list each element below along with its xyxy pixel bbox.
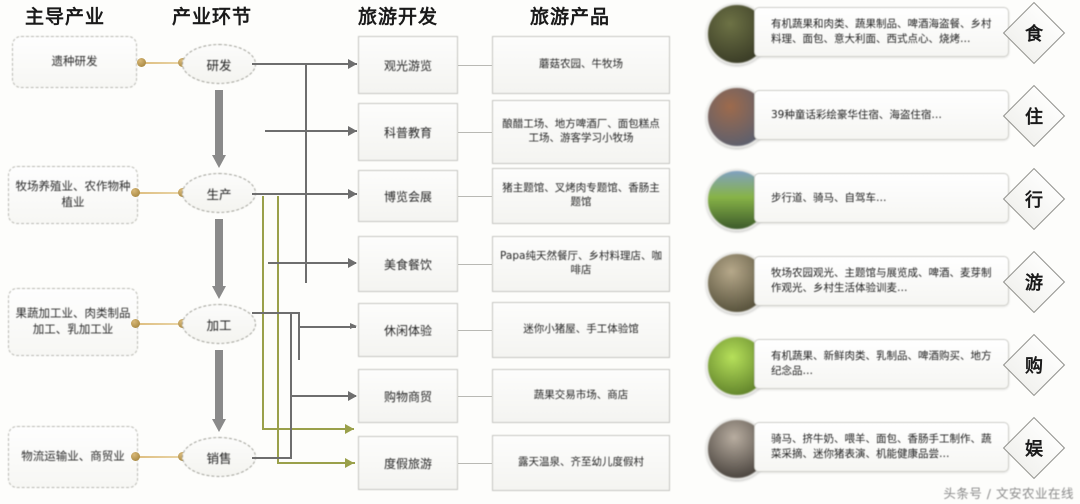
main-industry-box: 果蔬加工业、肉类制品加工、乳加工业: [8, 288, 138, 356]
flow-arrowhead-olive: [345, 458, 354, 468]
flow-arrowhead: [348, 59, 357, 69]
experience-category-label: 购: [1013, 344, 1055, 386]
flow-arrowhead: [348, 189, 357, 199]
experience-category-badge: 购: [1003, 334, 1065, 396]
experience-category-label: 娱: [1013, 427, 1055, 469]
tourism-development-box: 博览会展: [358, 170, 458, 222]
industry-link-oval: 生产: [182, 173, 256, 213]
experience-category-label: 游: [1013, 261, 1055, 303]
column-header-tourism-product: 旅游产品: [530, 2, 610, 29]
dev-product-connector: [458, 264, 492, 265]
tourism-product-box: 酿醋工场、地方啤酒厂、面包糕点工场、游客学习小牧场: [492, 100, 670, 164]
experience-text: 有机蔬果、新鲜肉类、乳制品、啤酒购买、地方纪念品…: [754, 339, 1009, 389]
flow-line: [252, 193, 357, 195]
experience-text: 牧场农园观光、主题馆与展览成、啤酒、麦芽制作观光、乡村生活体验训麦…: [754, 256, 1009, 306]
main-industry-box: 牧场养殖业、农作物种植业: [8, 166, 138, 224]
flow-line: [268, 262, 356, 264]
experience-text: 骑马、挤牛奶、喂羊、面包、香肠手工制作、蔬菜采摘、迷你猪表演、机能健康品尝…: [754, 422, 1009, 472]
gold-connector-line: [136, 323, 184, 325]
watermark: 头条号 / 文安农业在线: [943, 483, 1074, 502]
process-flow-arrow-down: [212, 90, 226, 168]
industry-link-oval: 销售: [182, 437, 256, 477]
tourism-product-box: 猪主题馆、叉烤肉专题馆、香肠主题馆: [492, 168, 670, 224]
flow-arrowhead: [348, 258, 357, 268]
diagram-canvas: 主导产业 产业环节 旅游开发 旅游产品 遗种研发 牧场养殖业、农作物种植业 果蔬…: [0, 0, 1080, 504]
tourism-development-box: 美食餐饮: [358, 236, 458, 292]
column-header-main-industry: 主导产业: [25, 2, 105, 29]
dev-product-connector: [458, 196, 492, 197]
experience-category-badge: 游: [1003, 251, 1065, 313]
main-industry-box: 物流运输业、商贸业: [8, 426, 138, 488]
flow-line-olive: [262, 428, 354, 430]
experience-text: 39种童话彩绘豪华住宿、海盗住宿…: [754, 90, 1009, 140]
gold-connector-line: [136, 456, 184, 458]
flow-line: [252, 457, 292, 459]
experience-category-label: 行: [1013, 178, 1055, 220]
experience-category-badge: 住: [1003, 85, 1065, 147]
industry-link-oval: 加工: [182, 304, 256, 344]
flow-arrowhead: [350, 323, 357, 329]
experience-text: 有机蔬果和肉类、蔬果制品、啤酒海盗餐、乡村料理、面包、意大利面、西式点心、烧烤…: [754, 7, 1009, 57]
column-header-industry-link: 产业环节: [172, 2, 252, 29]
column-header-tourism-development: 旅游开发: [358, 2, 438, 29]
tourism-development-box: 购物商贸: [358, 369, 458, 423]
flow-line: [265, 130, 357, 132]
flow-line: [298, 312, 300, 360]
main-industry-box: 遗种研发: [12, 36, 137, 88]
flow-line: [290, 312, 292, 459]
process-flow-arrow-down: [212, 219, 226, 299]
tourism-product-box: 迷你小猪屋、手工体验馆: [492, 302, 670, 358]
process-flow-arrow-down: [212, 350, 226, 432]
experience-category-badge: 食: [1003, 2, 1065, 64]
gold-connector-dot: [131, 188, 140, 197]
gold-connector-dot: [137, 58, 146, 67]
tourism-product-box: Papa纯天然餐厅、乡村料理店、咖啡店: [492, 236, 670, 292]
experience-text: 步行道、骑马、自驾车…: [754, 173, 1009, 223]
tourism-development-box: 观光游览: [358, 36, 458, 94]
flow-arrowhead: [348, 391, 357, 401]
experience-category-label: 住: [1013, 95, 1055, 137]
gold-connector-line: [136, 192, 184, 194]
tourism-development-box: 科普教育: [358, 103, 458, 161]
experience-category-badge: 娱: [1003, 417, 1065, 479]
tourism-product-box: 蘑菇农园、牛牧场: [492, 36, 670, 94]
flow-line: [290, 395, 356, 397]
gold-connector-dot: [131, 452, 140, 461]
tourism-development-box: 休闲体验: [358, 303, 458, 357]
experience-category-badge: 行: [1003, 168, 1065, 230]
gold-connector-dot: [131, 319, 140, 328]
dev-product-connector: [458, 132, 492, 133]
dev-product-connector: [458, 463, 492, 464]
flow-line-olive: [277, 196, 279, 464]
tourism-product-box: 蔬果交易市场、商店: [492, 369, 670, 423]
flow-line: [298, 326, 356, 328]
tourism-development-box: 度假旅游: [358, 436, 458, 490]
flow-line: [252, 312, 300, 314]
flow-arrowhead-olive: [345, 424, 354, 434]
dev-product-connector: [458, 396, 492, 397]
dev-product-connector: [458, 65, 492, 66]
dev-product-connector: [458, 330, 492, 331]
tourism-product-box: 露天温泉、齐至幼儿度假村: [492, 435, 670, 491]
flow-arrowhead: [348, 126, 357, 136]
industry-link-oval: 研发: [182, 44, 256, 84]
flow-line-olive: [277, 462, 355, 464]
experience-category-label: 食: [1013, 12, 1055, 54]
flow-line-trunk: [305, 63, 307, 283]
